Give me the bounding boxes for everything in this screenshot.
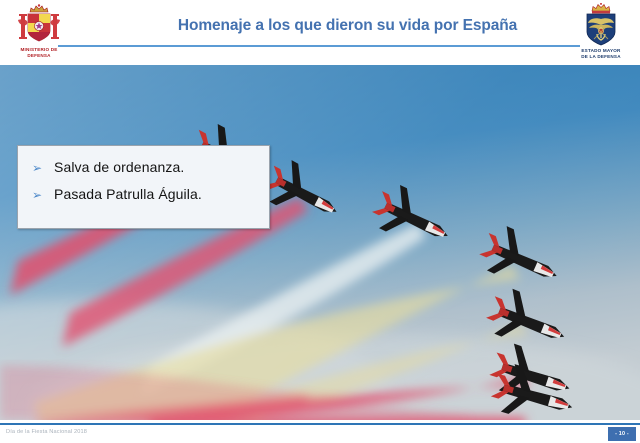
presentation-slide: ➢ Salva de ordenanza. ➢ Pasada Patrulla … <box>0 0 640 443</box>
ministerio-de-defensa-logo: MINISTERIO DE DEFENSA <box>8 4 70 62</box>
page-title: Homenaje a los que dieron su vida por Es… <box>120 17 575 35</box>
title-divider <box>58 45 580 47</box>
estado-mayor-logo-caption: ESTADO MAYOR DE LA DEFENSA <box>581 48 620 59</box>
estado-mayor-defensa-logo: ESTADO MAYOR DE LA DEFENSA <box>568 3 634 62</box>
photo-illustration <box>0 65 640 420</box>
caption-line-2: DEFENSA <box>27 53 50 58</box>
list-item: ➢ Pasada Patrulla Águila. <box>18 187 269 214</box>
slide-header: MINISTERIO DE DEFENSA Homenaje a los que… <box>0 0 640 65</box>
footer-text: Día de la Fiesta Nacional 2018 <box>6 429 87 435</box>
bullet-callout-box: ➢ Salva de ordenanza. ➢ Pasada Patrulla … <box>17 145 270 229</box>
ministerio-logo-caption: MINISTERIO DE DEFENSA <box>20 47 57 58</box>
arrow-bullet-icon: ➢ <box>32 162 54 174</box>
caption-line-1: ESTADO MAYOR <box>581 48 620 53</box>
bullet-text: Pasada Patrulla Águila. <box>54 187 202 201</box>
page-number-badge: - 10 - <box>608 427 636 441</box>
slide-photo <box>0 65 640 420</box>
slide-footer: Día de la Fiesta Nacional 2018 - 10 - <box>0 425 640 443</box>
spain-coat-of-arms-icon <box>17 4 61 46</box>
caption-line-1: MINISTERIO DE <box>20 47 57 52</box>
arrow-bullet-icon: ➢ <box>32 189 54 201</box>
bullet-text: Salva de ordenanza. <box>54 160 184 174</box>
estado-mayor-defensa-emblem-icon <box>581 3 621 47</box>
caption-line-2: DE LA DEFENSA <box>581 54 620 59</box>
list-item: ➢ Salva de ordenanza. <box>18 160 269 187</box>
